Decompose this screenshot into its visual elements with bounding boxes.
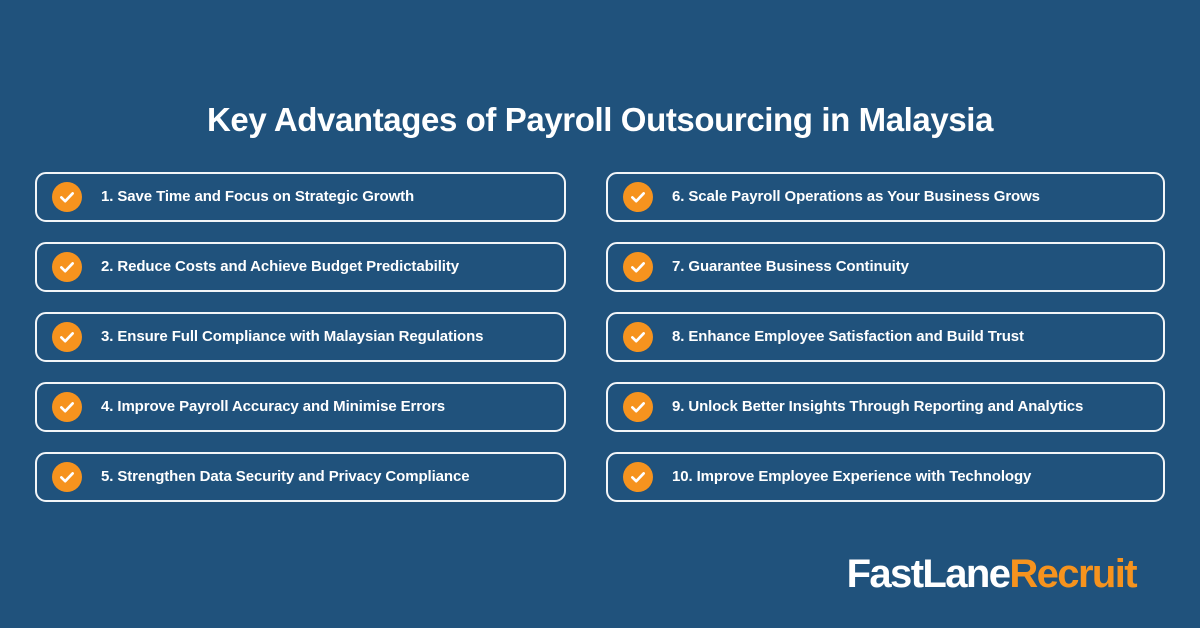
check-circle-icon: [52, 322, 82, 352]
check-circle-icon: [52, 252, 82, 282]
check-circle-icon: [623, 462, 653, 492]
check-circle-icon: [52, 392, 82, 422]
check-circle-icon: [623, 392, 653, 422]
check-circle-icon: [52, 182, 82, 212]
page-title: Key Advantages of Payroll Outsourcing in…: [0, 97, 1200, 143]
advantage-label: 6. Scale Payroll Operations as Your Busi…: [672, 187, 1040, 207]
advantage-card[interactable]: 9. Unlock Better Insights Through Report…: [606, 382, 1165, 432]
advantage-label: 2. Reduce Costs and Achieve Budget Predi…: [101, 257, 459, 277]
advantage-label: 4. Improve Payroll Accuracy and Minimise…: [101, 397, 445, 417]
advantage-card[interactable]: 10. Improve Employee Experience with Tec…: [606, 452, 1165, 502]
advantage-label: 3. Ensure Full Compliance with Malaysian…: [101, 327, 483, 347]
advantage-card[interactable]: 8. Enhance Employee Satisfaction and Bui…: [606, 312, 1165, 362]
advantages-column-left: 1. Save Time and Focus on Strategic Grow…: [35, 172, 566, 502]
check-circle-icon: [623, 182, 653, 212]
advantage-label: 8. Enhance Employee Satisfaction and Bui…: [672, 327, 1024, 347]
advantages-column-right: 6. Scale Payroll Operations as Your Busi…: [606, 172, 1165, 502]
advantage-card[interactable]: 5. Strengthen Data Security and Privacy …: [35, 452, 566, 502]
advantage-card[interactable]: 7. Guarantee Business Continuity: [606, 242, 1165, 292]
advantage-card[interactable]: 2. Reduce Costs and Achieve Budget Predi…: [35, 242, 566, 292]
brand-logo[interactable]: FastLaneRecruit: [847, 552, 1136, 596]
advantages-list: 1. Save Time and Focus on Strategic Grow…: [0, 172, 1200, 504]
advantage-label: 1. Save Time and Focus on Strategic Grow…: [101, 187, 414, 207]
advantage-card[interactable]: 6. Scale Payroll Operations as Your Busi…: [606, 172, 1165, 222]
check-circle-icon: [623, 252, 653, 282]
advantage-label: 5. Strengthen Data Security and Privacy …: [101, 467, 469, 487]
infographic-canvas: Key Advantages of Payroll Outsourcing in…: [0, 0, 1200, 628]
brand-logo-secondary: Recruit: [1009, 552, 1136, 596]
advantage-label: 10. Improve Employee Experience with Tec…: [672, 467, 1031, 487]
advantage-card[interactable]: 1. Save Time and Focus on Strategic Grow…: [35, 172, 566, 222]
advantage-card[interactable]: 3. Ensure Full Compliance with Malaysian…: [35, 312, 566, 362]
brand-logo-primary: FastLane: [847, 552, 1010, 596]
advantage-card[interactable]: 4. Improve Payroll Accuracy and Minimise…: [35, 382, 566, 432]
advantage-label: 9. Unlock Better Insights Through Report…: [672, 397, 1083, 417]
check-circle-icon: [623, 322, 653, 352]
check-circle-icon: [52, 462, 82, 492]
advantage-label: 7. Guarantee Business Continuity: [672, 257, 909, 277]
